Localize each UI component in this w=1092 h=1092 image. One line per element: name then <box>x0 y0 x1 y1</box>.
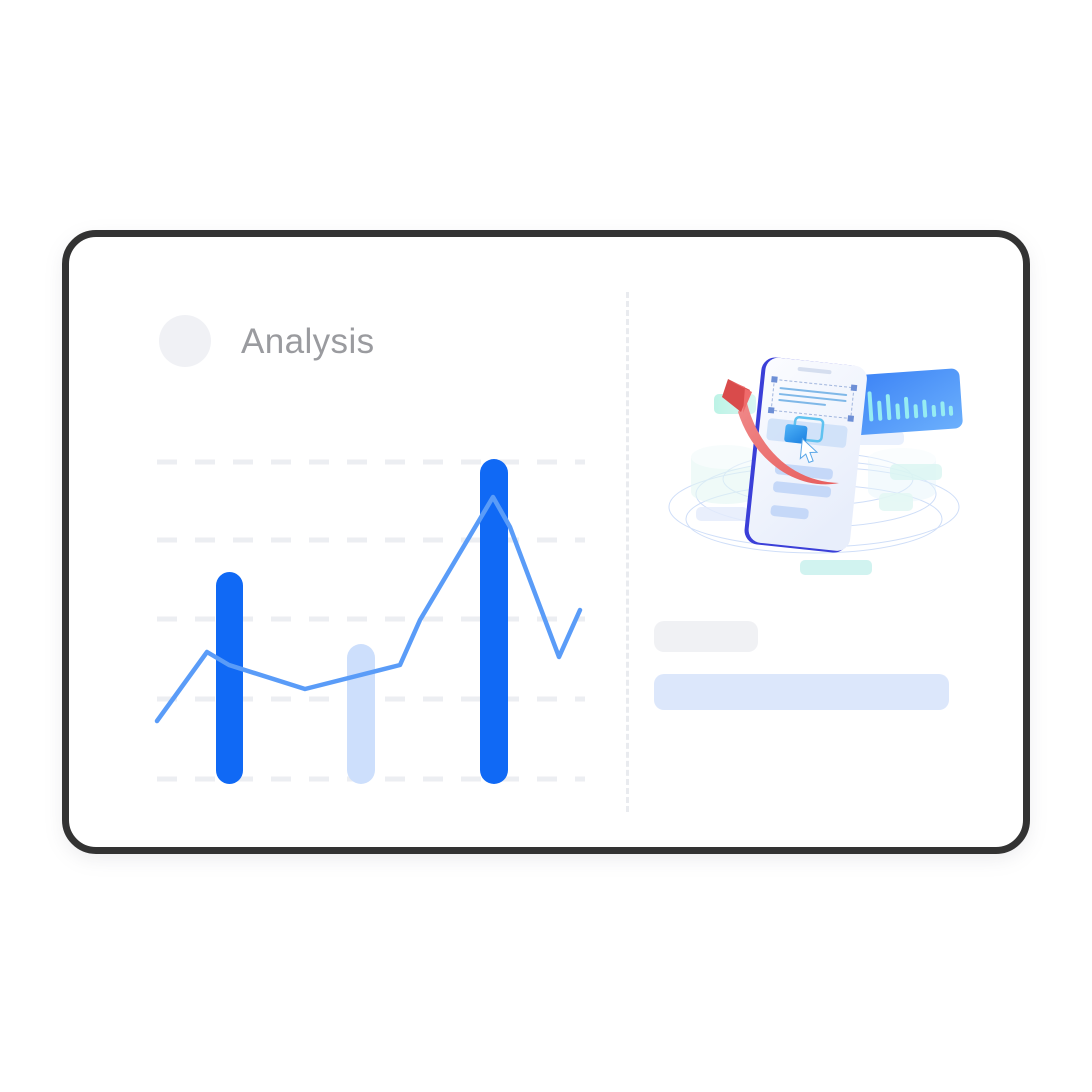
chart-canvas <box>69 237 626 847</box>
right-panel <box>626 237 1030 847</box>
placeholder-large <box>654 674 949 710</box>
analysis-card: Analysis <box>62 230 1030 854</box>
analysis-chart[interactable] <box>69 237 626 847</box>
mobile-analytics-illustration <box>646 357 976 587</box>
illustration-canvas <box>646 357 976 587</box>
placeholder-small <box>654 621 758 652</box>
chart-bar-primary-1 <box>216 572 243 784</box>
screenshot-stage: Analysis <box>0 0 1092 1092</box>
phone-device-icon <box>743 357 868 554</box>
chart-bar-secondary-1 <box>347 644 375 784</box>
